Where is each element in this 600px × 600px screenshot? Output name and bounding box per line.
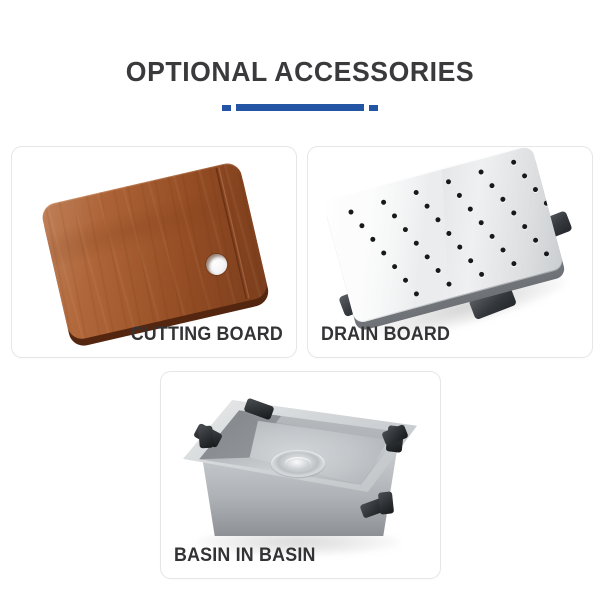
drain-hole [413,189,419,195]
drain-hole [511,210,517,216]
drain-hole [532,186,538,192]
drain-hole [413,240,419,246]
basin-graphic [175,388,425,560]
divider-dot-left [222,105,231,111]
drain-hole [489,183,495,189]
accessory-card-cutting-board[interactable]: CUTTING BOARD [11,146,297,358]
drain-hole [424,254,430,260]
corner-guard-bottom-right-arm [378,491,394,514]
drain-hole [381,250,387,256]
drain-hole [522,173,528,179]
drain-hole [478,169,484,175]
drain-hole [511,159,517,165]
divider-dot-right [369,105,378,111]
drain-hole [359,223,365,229]
drain-hole [543,251,549,257]
card-label-cutting-board: CUTTING BOARD [131,324,283,346]
drain-hole [380,199,386,205]
drain-hole [457,244,463,250]
title-divider [0,104,600,111]
accessory-card-drain-board[interactable]: DRAIN BOARD [307,146,593,358]
drain-hole [402,226,408,232]
drain-hole [456,193,462,199]
divider-bar [236,104,364,111]
drain-hole [489,234,495,240]
corner-guard-top-left-arm [198,426,214,449]
drain-hole [424,203,430,209]
basin-drain [271,450,325,477]
drain-hole [348,209,354,215]
drain-hole [435,216,441,222]
drain-hole [446,179,452,185]
drain-hole [435,267,441,273]
drain-hole [446,230,452,236]
drain-hole [478,220,484,226]
accessories-infographic: OPTIONAL ACCESSORIES CUTTING BOARD [0,0,600,600]
card-label-drain-board: DRAIN BOARD [321,324,450,346]
accessory-card-basin-in-basin[interactable]: BASIN IN BASIN [160,371,441,579]
drain-hole [468,257,474,263]
board-surface [40,160,270,341]
drain-hole [533,237,539,243]
drain-hole [467,206,473,212]
drain-hole [500,196,506,202]
header: OPTIONAL ACCESSORIES [0,58,600,111]
page-title: OPTIONAL ACCESSORIES [15,58,585,86]
drain-hole [500,247,506,253]
drain-hole [446,281,452,287]
drain-hole [511,261,517,267]
drain-hole [402,277,408,283]
drain-hole [391,213,397,219]
drain-hole [370,236,376,242]
drain-hole [522,224,528,230]
drain-hole [478,271,484,277]
drain-hole [392,264,398,270]
drain-hole [413,291,419,297]
drain-hole [543,200,549,206]
card-label-basin-in-basin: BASIN IN BASIN [174,545,316,567]
